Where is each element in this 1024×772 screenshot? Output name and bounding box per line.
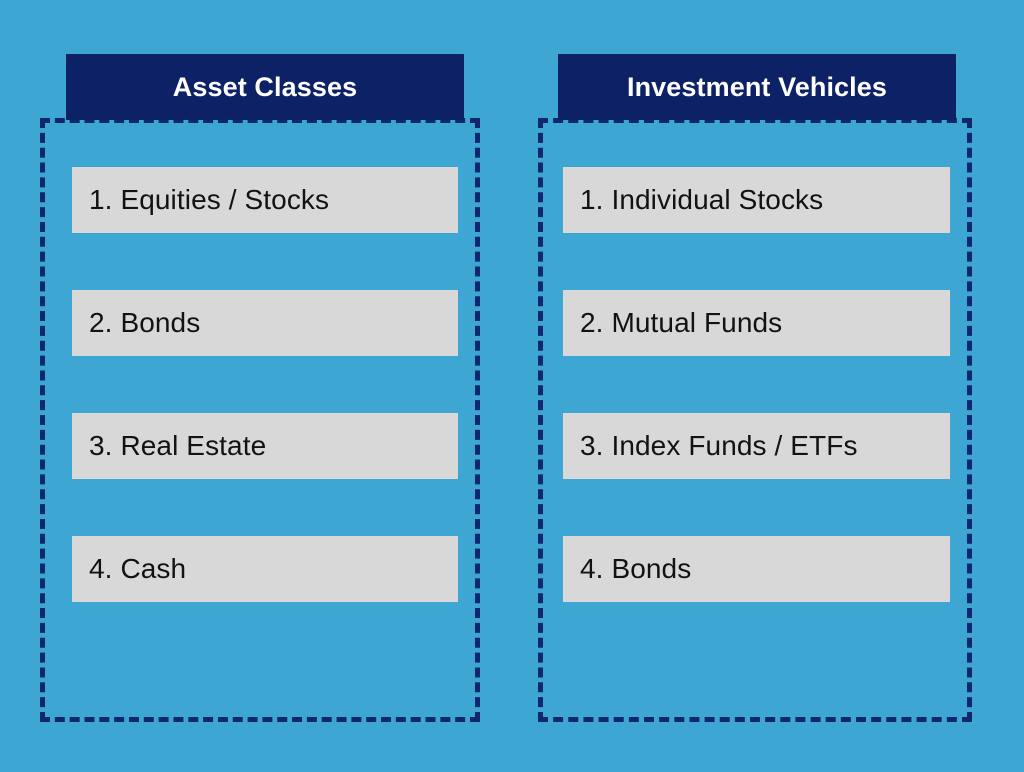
list-item-number: 4. — [89, 553, 120, 585]
list-item-number: 2. — [89, 307, 120, 339]
list-item-number: 1. — [89, 184, 120, 216]
list-item-label: Cash — [120, 553, 186, 585]
list-item[interactable]: 3. Index Funds / ETFs — [563, 413, 950, 479]
list-item-label: Bonds — [120, 307, 200, 339]
list-item-label: Bonds — [611, 553, 691, 585]
list-item-number: 3. — [89, 430, 120, 462]
item-list-investment-vehicles: 1. Individual Stocks 2. Mutual Funds 3. … — [538, 118, 972, 722]
column-header-asset-classes: Asset Classes — [66, 54, 464, 120]
column-title-text: Asset Classes — [173, 72, 357, 103]
list-item-label: Real Estate — [120, 430, 266, 462]
diagram-canvas: Asset Classes 1. Equities / Stocks 2. Bo… — [0, 0, 1024, 772]
list-item-label: Index Funds / ETFs — [611, 430, 857, 462]
list-item[interactable]: 4. Cash — [72, 536, 458, 602]
list-item-number: 1. — [580, 184, 611, 216]
list-item[interactable]: 2. Mutual Funds — [563, 290, 950, 356]
column-header-investment-vehicles: Investment Vehicles — [558, 54, 956, 120]
list-item-label: Individual Stocks — [611, 184, 823, 216]
list-item[interactable]: 1. Individual Stocks — [563, 167, 950, 233]
list-item-number: 4. — [580, 553, 611, 585]
list-item[interactable]: 1. Equities / Stocks — [72, 167, 458, 233]
column-title-text: Investment Vehicles — [627, 72, 887, 103]
item-list-asset-classes: 1. Equities / Stocks 2. Bonds 3. Real Es… — [40, 118, 480, 722]
list-item[interactable]: 4. Bonds — [563, 536, 950, 602]
list-item-number: 3. — [580, 430, 611, 462]
list-item-number: 2. — [580, 307, 611, 339]
list-item[interactable]: 2. Bonds — [72, 290, 458, 356]
list-item-label: Equities / Stocks — [120, 184, 329, 216]
list-item-label: Mutual Funds — [611, 307, 782, 339]
list-item[interactable]: 3. Real Estate — [72, 413, 458, 479]
